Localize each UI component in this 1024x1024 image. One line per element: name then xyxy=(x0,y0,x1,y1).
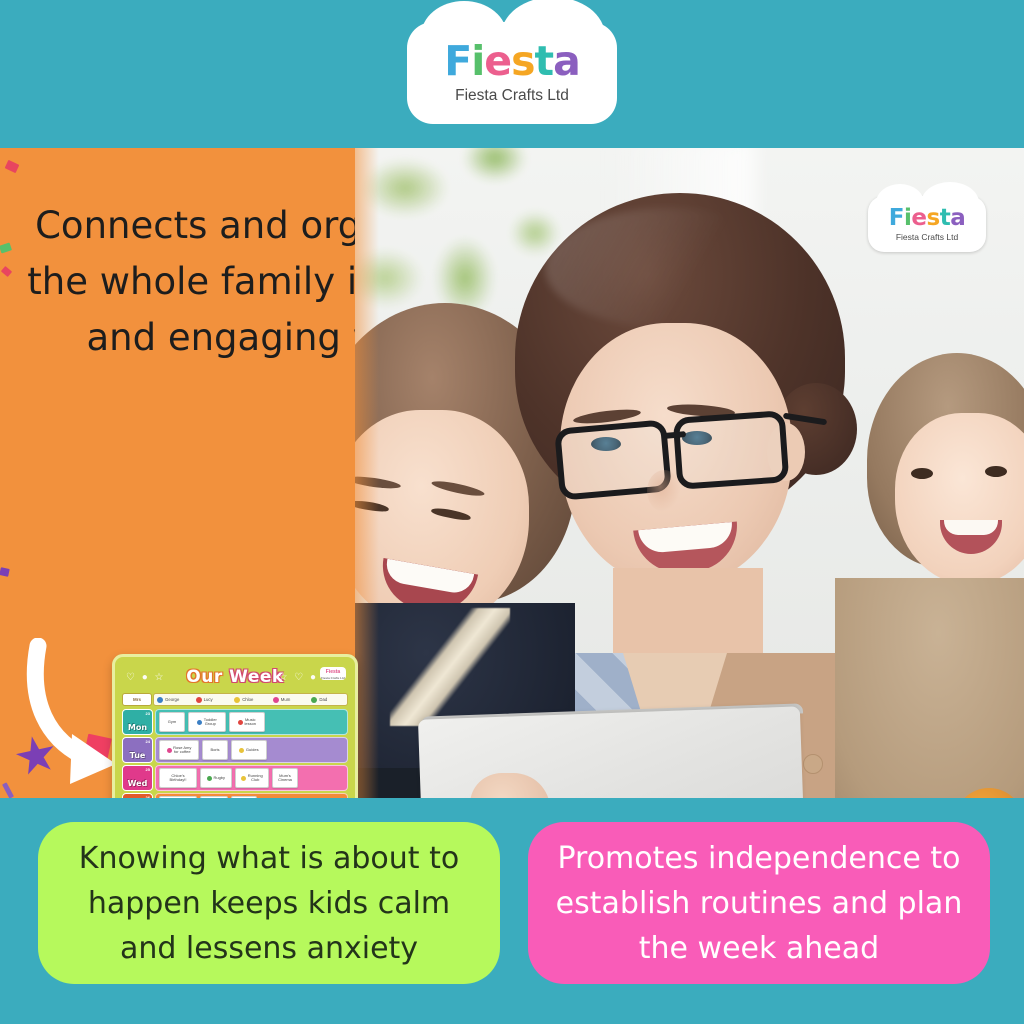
logo-letter-s: s xyxy=(511,41,534,82)
person-name: Chloe xyxy=(242,697,253,702)
activity-card: Rose Amy for coffee xyxy=(159,740,199,760)
planner-title-word1: Our xyxy=(186,667,222,687)
planner-names-tab: Mrs xyxy=(122,693,152,706)
benefit-text-independence: Promotes independence to establish routi… xyxy=(554,836,964,971)
activity-text: Rose Amy for coffee xyxy=(173,746,191,755)
logo-letter-i: i xyxy=(904,207,911,230)
activity-person-dot xyxy=(238,720,243,725)
planner-people-strip: George Lucy Chloe Mum Dad xyxy=(153,693,348,706)
planner-person: Chloe xyxy=(231,697,270,703)
person-color-dot xyxy=(157,697,163,703)
top-teal-banner: Fiesta Fiesta Crafts Ltd xyxy=(0,0,1024,148)
confetti-piece xyxy=(1,266,12,277)
brand-logo-subtitle: Fiesta Crafts Ltd xyxy=(455,87,569,105)
brand-logo: Fiesta Fiesta Crafts Ltd xyxy=(407,22,617,124)
activity-card: Boris xyxy=(202,740,228,760)
activity-text: Chloe's Birthday!! xyxy=(170,774,187,783)
activity-card: Running Club xyxy=(235,768,269,788)
day-date: 23 xyxy=(146,711,150,716)
activity-person-dot xyxy=(241,776,246,781)
day-abbr: Wed xyxy=(128,780,148,788)
marketing-page: Fiesta Fiesta Crafts Ltd Connects and or… xyxy=(0,0,1024,1024)
logo-letter-a: a xyxy=(553,41,580,82)
hero-section: Connects and organises the whole family … xyxy=(0,148,1024,798)
confetti-piece xyxy=(5,160,20,173)
activity-text: Mum's Cinema xyxy=(278,774,292,783)
activity-text: Toddler Group xyxy=(204,718,217,727)
activity-card: Mum's Cinema xyxy=(272,768,298,788)
activity-card: Gym xyxy=(159,712,185,732)
mother-glasses-icon xyxy=(551,410,817,494)
day-tab-tue: 24 Tue xyxy=(122,737,153,763)
benefit-text-calm: Knowing what is about to happen keeps ki… xyxy=(64,836,474,971)
watermark-subtitle: Fiesta Crafts Ltd xyxy=(896,232,958,242)
confetti-piece xyxy=(0,242,12,253)
activity-card: Rugby xyxy=(200,768,232,788)
photo-left-fade xyxy=(355,148,379,798)
activity-person-dot xyxy=(167,748,172,753)
logo-letter-s: s xyxy=(926,207,939,230)
toddler-eye-left xyxy=(911,468,933,479)
activity-text: Running Club xyxy=(248,774,263,783)
planner-person: Dad xyxy=(308,697,347,703)
activity-person-dot xyxy=(207,776,212,781)
person-color-dot xyxy=(273,697,279,703)
person-color-dot xyxy=(234,697,240,703)
person-name: Mum xyxy=(281,697,291,702)
watermark-logo: Fiesta Fiesta Crafts Ltd xyxy=(868,196,986,252)
activity-card: Music lesson xyxy=(229,712,265,732)
confetti-piece xyxy=(2,782,14,798)
logo-letter-i: i xyxy=(471,41,484,82)
sweater-sequin-detail xyxy=(390,608,510,726)
mother-nose xyxy=(647,470,681,512)
day-band-tue: Rose Amy for coffee Boris Guides xyxy=(155,737,348,763)
day-abbr: Tue xyxy=(130,752,146,760)
bottom-teal-banner: Knowing what is about to happen keeps ki… xyxy=(0,798,1024,1024)
planner-mini-logo-sub: Fiesta Crafts Ltd xyxy=(320,676,346,680)
day-band-wed: Chloe's Birthday!! Rugby Running Club Mu… xyxy=(155,765,348,791)
mother-hair-sheen xyxy=(545,208,795,328)
benefit-box-calm: Knowing what is about to happen keeps ki… xyxy=(38,822,500,984)
person-color-dot xyxy=(311,697,317,703)
day-tab-wed: 25 Wed xyxy=(122,765,153,791)
brand-logo-wordmark: Fiesta xyxy=(444,41,580,82)
planner-day-row: 23 Mon Gym Toddler Group Music lesson xyxy=(122,709,348,735)
planner-person: George xyxy=(154,697,193,703)
planner-person: Mum xyxy=(270,697,309,703)
toddler-teeth xyxy=(944,520,998,535)
planner-deco-right: ☆ ♡ ● xyxy=(278,672,318,683)
planner-title-word2: Week xyxy=(229,667,284,687)
planner-day-row: 25 Wed Chloe's Birthday!! Rugby Running … xyxy=(122,765,348,791)
person-name: Dad xyxy=(319,697,327,702)
activity-text: Rugby xyxy=(213,776,225,780)
activity-card: Guides xyxy=(231,740,267,760)
day-abbr: Mon xyxy=(128,724,147,732)
logo-letter-f: F xyxy=(889,207,904,230)
planner-person: Lucy xyxy=(193,697,232,703)
cardigan-button xyxy=(803,754,823,774)
toddler-eye-right xyxy=(985,466,1007,477)
logo-letter-e: e xyxy=(484,41,511,82)
planner-title: Our Week xyxy=(186,669,283,686)
logo-letter-e: e xyxy=(911,207,926,230)
activity-person-dot xyxy=(197,720,202,725)
toddler-knit-top xyxy=(835,578,1024,798)
logo-letter-f: F xyxy=(444,41,471,82)
planner-board: ♡ ● ☆ Our Week ☆ ♡ ● FiestaFiesta Crafts… xyxy=(120,661,350,798)
activity-person-dot xyxy=(239,748,244,753)
planner-day-row: 24 Tue Rose Amy for coffee Boris Guides xyxy=(122,737,348,763)
planner-mini-logo: FiestaFiesta Crafts Ltd xyxy=(320,667,346,680)
activity-card: Toddler Group xyxy=(188,712,226,732)
logo-letter-t: t xyxy=(940,207,951,230)
person-name: Lucy xyxy=(204,697,213,702)
activity-text: Boris xyxy=(210,748,219,752)
activity-text: Guides xyxy=(246,748,259,752)
planner-header: ♡ ● ☆ Our Week ☆ ♡ ● FiestaFiesta Crafts… xyxy=(122,663,348,691)
watermark-wordmark: Fiesta xyxy=(889,207,965,230)
day-tab-mon: 23 Mon xyxy=(122,709,153,735)
person-color-dot xyxy=(196,697,202,703)
activity-text: Music lesson xyxy=(244,718,256,727)
activity-card: Chloe's Birthday!! xyxy=(159,768,197,788)
planner-mini-logo-text: Fiesta xyxy=(326,669,340,675)
activity-text: Gym xyxy=(168,720,176,724)
benefit-box-independence: Promotes independence to establish routi… xyxy=(528,822,990,984)
planner-deco-left: ♡ ● ☆ xyxy=(126,672,166,683)
day-date: 25 xyxy=(146,767,150,772)
day-date: 24 xyxy=(146,739,150,744)
day-band-mon: Gym Toddler Group Music lesson xyxy=(155,709,348,735)
glasses-lens-right xyxy=(673,410,790,490)
our-week-planner-product: ♡ ● ☆ Our Week ☆ ♡ ● FiestaFiesta Crafts… xyxy=(112,654,358,798)
confetti-piece xyxy=(0,567,10,577)
logo-letter-t: t xyxy=(535,41,554,82)
person-name: George xyxy=(165,697,179,702)
planner-names-row: Mrs George Lucy Chloe Mum Dad xyxy=(122,692,348,707)
logo-letter-a: a xyxy=(950,207,965,230)
family-photo: Fiesta Fiesta Crafts Ltd xyxy=(355,148,1024,798)
